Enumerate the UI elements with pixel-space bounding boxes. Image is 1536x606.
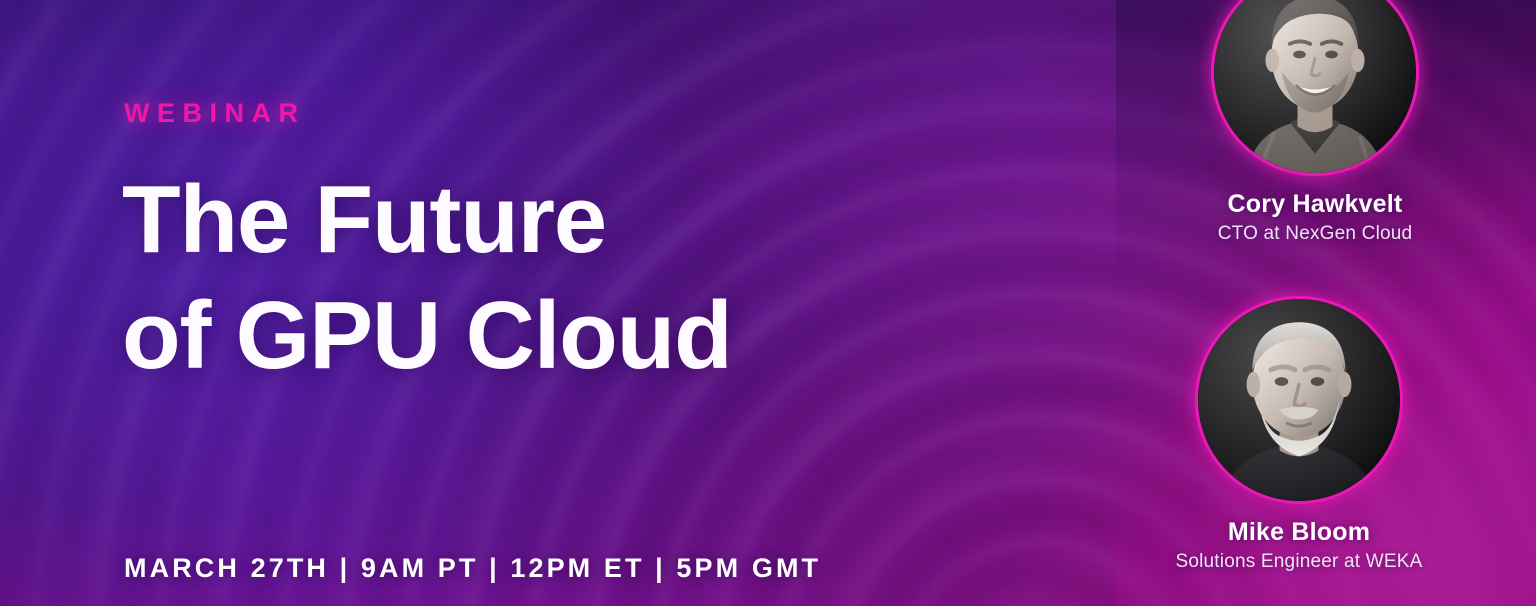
event-datetime: MARCH 27TH | 9AM PT | 12PM ET | 5PM GMT	[124, 553, 821, 584]
speaker-card-1: Cory Hawkvelt CTO at NexGen Cloud	[1100, 0, 1530, 245]
speaker-role: Solutions Engineer at WEKA	[1084, 551, 1514, 573]
title-line-2: of GPU Cloud	[122, 278, 732, 394]
speaker-name: Cory Hawkvelt	[1100, 190, 1530, 219]
webinar-promo-banner: WEBINAR The Future of GPU Cloud MARCH 27…	[0, 0, 1536, 606]
headshot-cory-hawkvelt-icon	[1214, 0, 1416, 173]
banner-content: WEBINAR The Future of GPU Cloud MARCH 27…	[122, 0, 902, 606]
webinar-eyebrow-label: WEBINAR	[124, 98, 306, 129]
speaker-role: CTO at NexGen Cloud	[1100, 223, 1530, 245]
page-title: The Future of GPU Cloud	[122, 162, 732, 394]
speaker-name: Mike Bloom	[1084, 518, 1514, 547]
speakers-panel: Cory Hawkvelt CTO at NexGen Cloud	[1106, 0, 1536, 606]
title-line-1: The Future	[122, 162, 732, 278]
speaker-card-2: Mike Bloom Solutions Engineer at WEKA	[1084, 296, 1514, 573]
avatar	[1195, 296, 1403, 504]
headshot-mike-bloom-icon	[1198, 299, 1400, 501]
avatar	[1211, 0, 1419, 176]
